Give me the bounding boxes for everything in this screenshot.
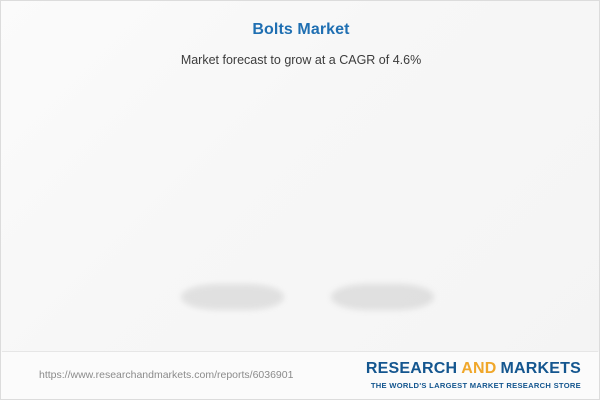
footer: https://www.researchandmarkets.com/repor… bbox=[1, 352, 599, 399]
logo-word-markets: MARKETS bbox=[500, 360, 581, 377]
report-url[interactable]: https://www.researchandmarkets.com/repor… bbox=[39, 369, 293, 381]
logo-word-and: AND bbox=[457, 360, 500, 377]
chart-plot-area: USD 39.64 Billion 2024 USD 56.81 Billion bbox=[1, 1, 600, 346]
logo-tagline: THE WORLD'S LARGEST MARKET RESEARCH STOR… bbox=[366, 380, 581, 391]
logo-wordmark: RESEARCHANDMARKETS bbox=[366, 360, 581, 378]
chart-card: Bolts Market Market forecast to grow at … bbox=[0, 0, 600, 400]
cylinder-shadow-2024 bbox=[181, 284, 284, 310]
research-and-markets-logo[interactable]: RESEARCHANDMARKETS THE WORLD'S LARGEST M… bbox=[366, 360, 581, 391]
logo-word-research: RESEARCH bbox=[366, 360, 457, 377]
cylinder-shadow-2032 bbox=[331, 284, 434, 310]
